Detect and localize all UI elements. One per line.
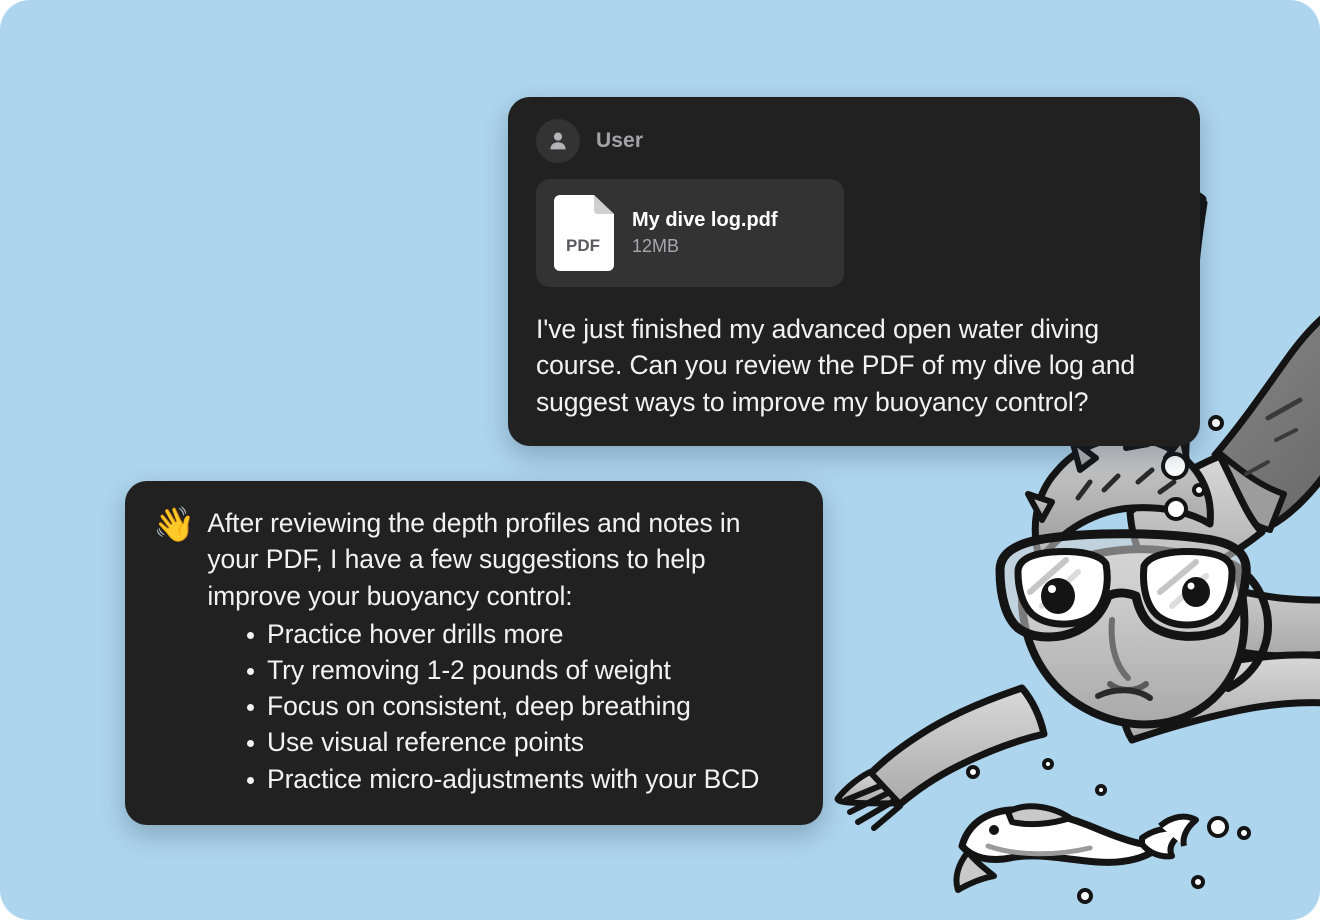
snorkeler-left-arm (838, 688, 1044, 828)
file-size: 12MB (632, 237, 778, 257)
list-item: Use visual reference points (245, 724, 795, 760)
fish (956, 806, 1196, 890)
conversation-canvas: User PDF My dive log.pdf 12MB I've just … (0, 0, 1320, 920)
file-attachment-meta: My dive log.pdf 12MB (632, 209, 778, 257)
pdf-file-icon: PDF (554, 195, 614, 271)
user-sender-name: User (596, 129, 643, 153)
assistant-message-bubble: 👋 After reviewing the depth profiles and… (125, 481, 823, 825)
file-attachment-card[interactable]: PDF My dive log.pdf 12MB (536, 179, 844, 287)
assistant-intro-text: After reviewing the depth profiles and n… (207, 505, 795, 614)
user-message-text: I've just finished my advanced open wate… (536, 311, 1172, 420)
air-bubbles (968, 386, 1249, 902)
user-message-bubble: User PDF My dive log.pdf 12MB I've just … (508, 97, 1200, 446)
svg-text:PDF: PDF (566, 236, 600, 255)
file-name: My dive log.pdf (632, 209, 778, 231)
list-item: Practice micro-adjustments with your BCD (245, 761, 795, 797)
assistant-intro-row: 👋 After reviewing the depth profiles and… (153, 505, 795, 614)
suggestion-list: Practice hover drills more Try removing … (153, 616, 795, 797)
list-item: Try removing 1-2 pounds of weight (245, 652, 795, 688)
list-item: Practice hover drills more (245, 616, 795, 652)
user-message-header: User (536, 119, 1172, 163)
waving-hand-icon: 👋 (153, 506, 195, 544)
user-avatar-icon (536, 119, 580, 163)
snorkeler-head (1000, 420, 1268, 724)
list-item: Focus on consistent, deep breathing (245, 688, 795, 724)
